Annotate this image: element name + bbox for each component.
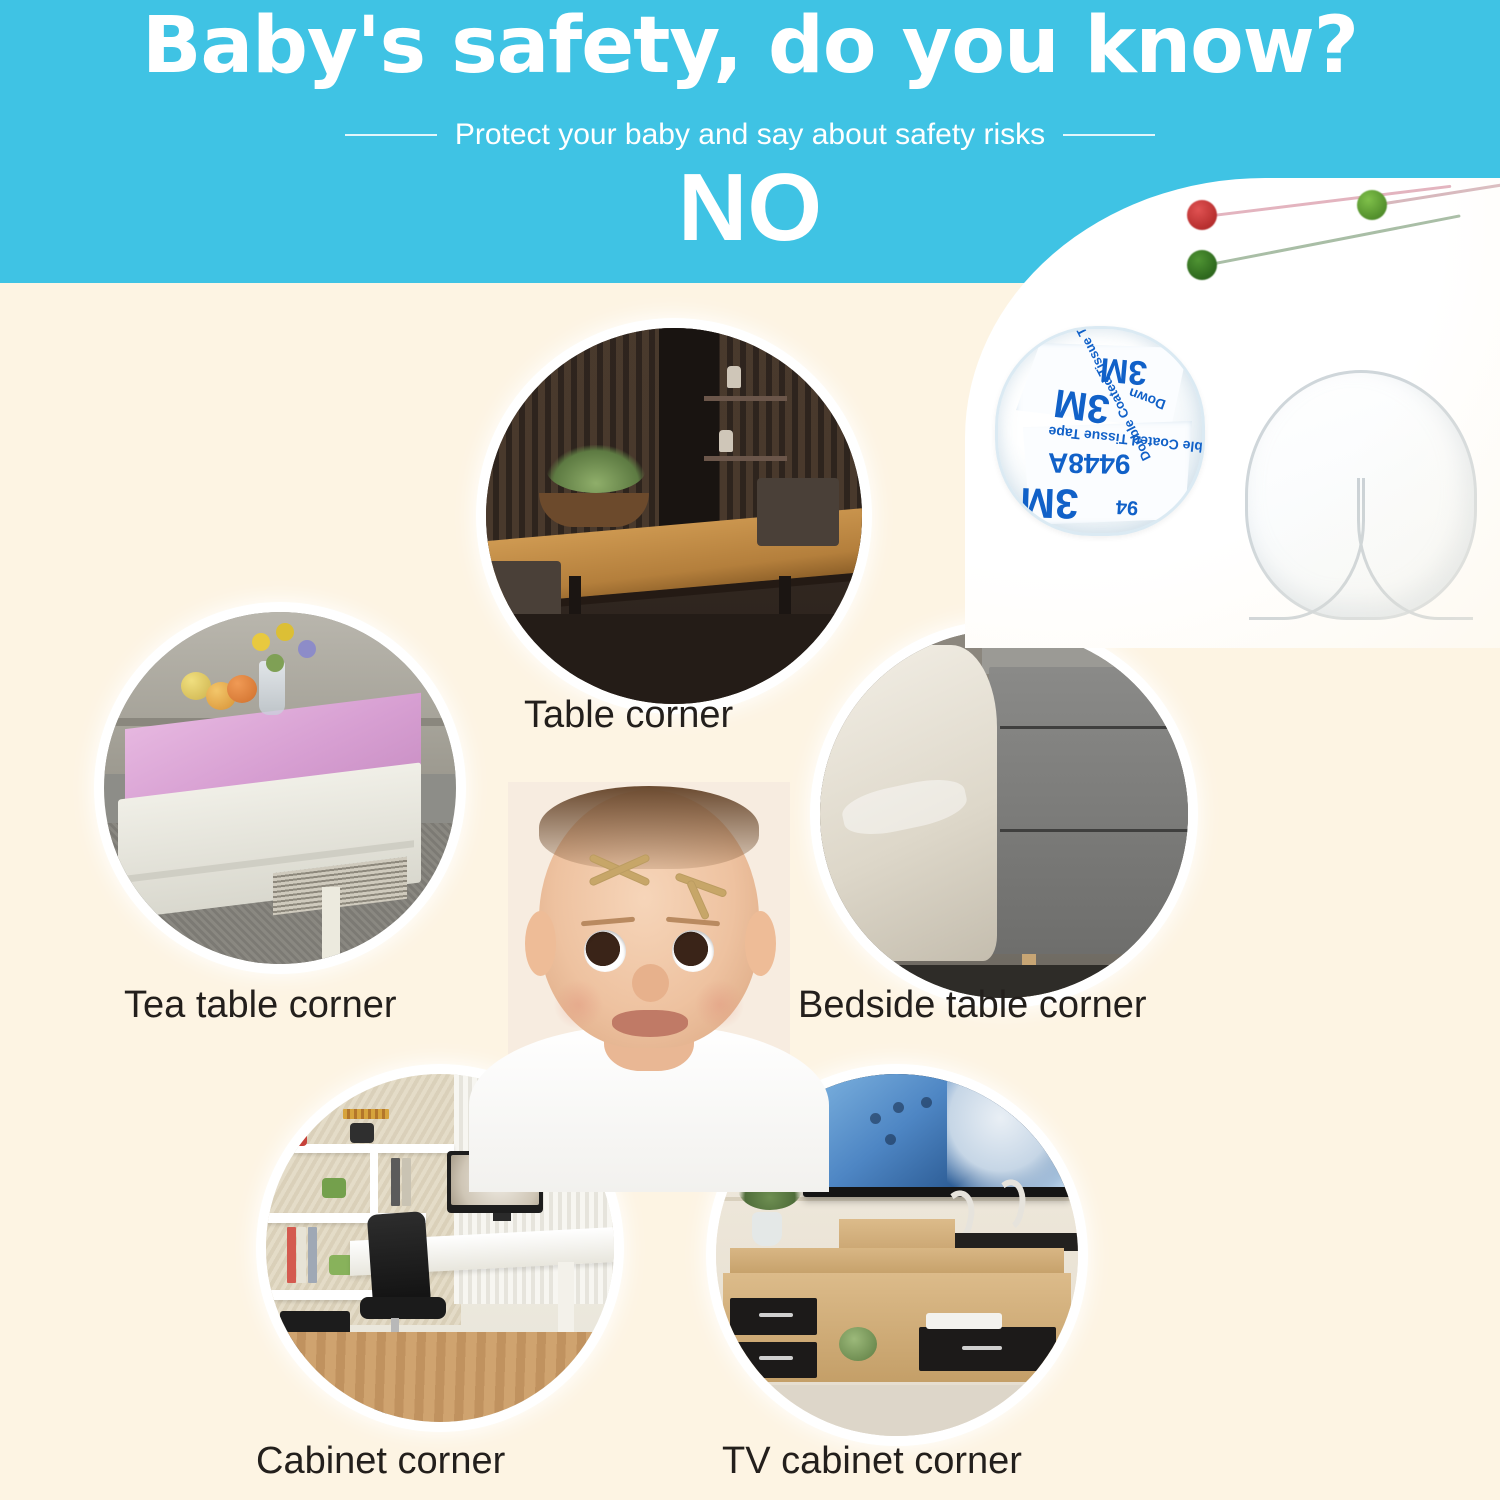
monitor-stand xyxy=(493,1213,511,1221)
baby-eye-right xyxy=(672,930,714,972)
book-c xyxy=(308,1227,317,1283)
tv-screen-dot-d xyxy=(921,1097,932,1108)
book-a xyxy=(287,1227,296,1283)
office-chair-back xyxy=(367,1211,431,1309)
scene-bedroom xyxy=(820,630,1188,998)
baby-ear-left xyxy=(525,911,556,976)
shelf-lower xyxy=(704,456,787,461)
caption-tea-table-corner: Tea table corner xyxy=(124,984,397,1027)
drawer-handle-c xyxy=(962,1346,1002,1350)
cabinet-top-surface xyxy=(730,1248,1063,1273)
green-pin-lower-shaft xyxy=(1215,214,1461,265)
green-pin-lower-head xyxy=(1187,250,1217,280)
tv-screen-dot-b xyxy=(893,1102,904,1113)
baby-cheek-left xyxy=(553,980,604,1029)
rule-left-decoration xyxy=(345,134,437,136)
subtitle-row: Protect your baby and say about safety r… xyxy=(0,118,1500,152)
chair-right xyxy=(757,478,840,546)
caption-cabinet-corner: Cabinet corner xyxy=(256,1440,505,1483)
corner-guard-with-3m-tape: 3M 3M 3M 9448A Double Coated Tissue Tape… xyxy=(995,326,1205,536)
clear-corner-guard xyxy=(1245,370,1477,620)
red-pin-shaft xyxy=(1213,185,1452,217)
tv-screen-dot-c xyxy=(885,1134,896,1145)
product-inset-photo: 3M 3M 3M 9448A Double Coated Tissue Tape… xyxy=(965,178,1500,648)
page-subtitle: Protect your baby and say about safety r… xyxy=(455,118,1045,152)
figurine-lower xyxy=(719,430,733,452)
guard-fold-right xyxy=(1357,478,1473,620)
scene-living-room xyxy=(104,612,456,964)
caption-table-corner: Table corner xyxy=(524,694,733,737)
green-pin-upper-shaft xyxy=(1385,178,1500,205)
plant-pot-a xyxy=(283,1126,307,1146)
figurine-upper xyxy=(727,366,741,388)
rule-right-decoration xyxy=(1063,134,1155,136)
tape-piece-lower xyxy=(1012,421,1192,525)
flower-yellow-b xyxy=(276,623,294,641)
plant-pot-b xyxy=(350,1123,374,1143)
green-pin-upper-head xyxy=(1357,190,1387,220)
floor xyxy=(486,614,862,704)
drawer-seam-upper xyxy=(1000,726,1188,729)
drawer-seam-lower xyxy=(1000,829,1188,832)
tape-brand-mark-3: 3M xyxy=(1019,478,1079,528)
baby-nose xyxy=(632,964,669,1002)
guard-dome xyxy=(1245,370,1477,620)
tape-mark-down: Down xyxy=(1126,385,1167,413)
dark-panel xyxy=(659,328,719,546)
guard-fold-left xyxy=(1249,478,1365,620)
book-d xyxy=(391,1158,400,1207)
book-e xyxy=(402,1158,411,1207)
tape-piece-upper xyxy=(1016,343,1188,429)
photo-bedside-table-corner xyxy=(820,630,1188,998)
shelf-divider xyxy=(370,1144,378,1221)
media-device xyxy=(926,1313,1002,1329)
wooden-bowl xyxy=(539,493,649,527)
tv-screen xyxy=(808,1074,1066,1187)
living-room-floor xyxy=(716,1385,1078,1436)
page-title: Baby's safety, do you know? xyxy=(0,6,1500,88)
caption-bedside-table-corner: Bedside table corner xyxy=(798,984,1147,1027)
photo-tea-table-corner xyxy=(104,612,456,964)
glass-vase xyxy=(752,1212,782,1246)
office-chair-seat xyxy=(360,1297,446,1319)
wood-floor xyxy=(266,1332,614,1422)
photo-table-corner xyxy=(486,328,862,704)
red-pin-head xyxy=(1187,200,1217,230)
tape-brand-mark-1: 3M xyxy=(1098,349,1148,392)
tv-screen-figure xyxy=(947,1074,1066,1187)
table-plant xyxy=(546,445,646,493)
book-b xyxy=(297,1227,306,1283)
scene-dining-room xyxy=(486,328,862,704)
drawer-handle-b xyxy=(759,1356,793,1360)
tape-brand-mark-2: 3M xyxy=(1051,379,1112,431)
tape-description-2: Double Coated Tissue Tape xyxy=(1048,424,1205,459)
grey-nightstand xyxy=(989,667,1188,954)
plant-pot-c xyxy=(322,1178,346,1198)
injured-baby-photo xyxy=(508,782,790,1162)
caption-tv-cabinet-corner: TV cabinet corner xyxy=(722,1440,1022,1483)
tape-description-1: Double Coated Tissue Tape xyxy=(1064,326,1154,463)
baby-cheek-right xyxy=(694,980,745,1029)
shelf-upper xyxy=(704,396,787,401)
flower-blue xyxy=(298,640,316,658)
tape-mark-94: 94 xyxy=(1115,494,1139,518)
baby-ear-right xyxy=(745,911,776,976)
book-row-top xyxy=(343,1109,389,1119)
table-leg-front xyxy=(322,887,340,964)
tv-screen-dot-a xyxy=(870,1113,881,1124)
flower-yellow-a xyxy=(252,633,270,651)
tape-code-label: 9448A xyxy=(1048,446,1131,479)
wall-mounted-tv xyxy=(803,1074,1071,1197)
baby-mouth-frown xyxy=(612,1010,688,1037)
drawer-handle-a xyxy=(759,1313,793,1317)
baby-eye-left xyxy=(584,930,626,972)
